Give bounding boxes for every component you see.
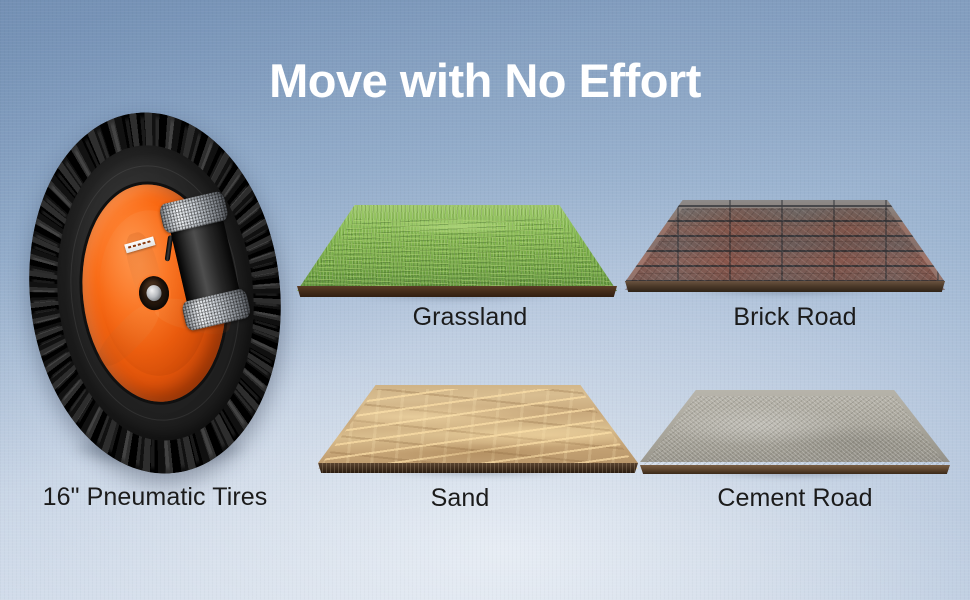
hub-bearing [145,284,162,301]
surface-label-brick-road: Brick Road [640,303,950,332]
soil-edge [318,463,638,473]
product-wheel-image [24,108,300,483]
page-title: Move with No Effort [0,56,970,105]
product-label: 16" Pneumatic Tires [0,483,310,512]
surface-sand [318,385,638,481]
soil-edge [625,281,945,292]
soil-edge [297,286,617,297]
promo-banner: Move with No Effort [0,0,970,600]
surface-label-sand: Sand [315,484,605,513]
surface-brick-road [625,200,945,300]
soil-edge [640,465,950,474]
surface-label-grassland: Grassland [315,303,625,332]
surface-cement-road [640,390,950,482]
surface-label-cement-road: Cement Road [640,484,950,513]
surface-grassland [297,205,617,305]
